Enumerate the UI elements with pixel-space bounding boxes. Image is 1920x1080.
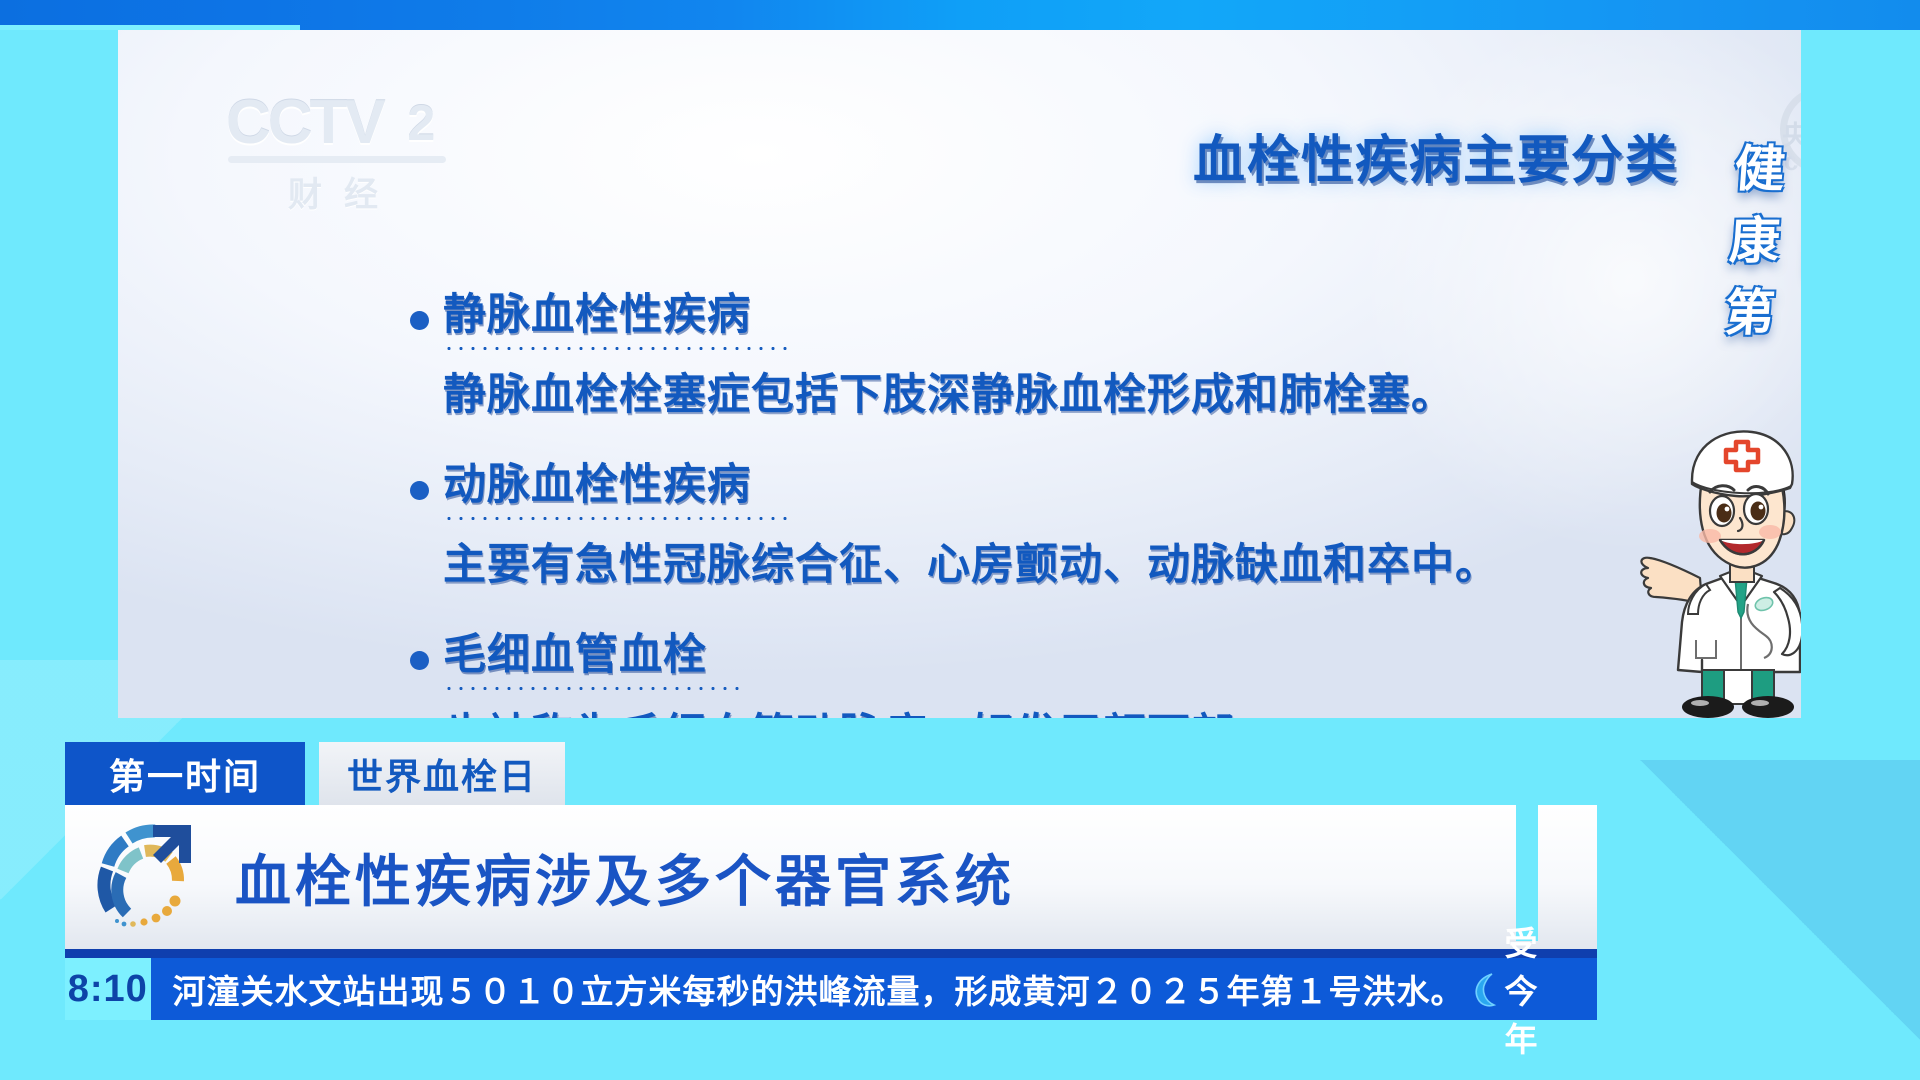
bullet-item: 毛细血管血栓 也被称为毛细血管动脉瘤，好发于颜面部。 [410,620,1590,718]
topic-tab: 世界血栓日 [319,742,565,805]
cctv-logo-text: CCTV [226,92,383,154]
headline-text: 血栓性疾病涉及多个器官系统 [235,837,1015,918]
bullet-term: 动脉血栓性疾病 [443,450,751,518]
moon-icon [1465,958,1505,1020]
slide-title: 血栓性疾病主要分类 [1193,118,1679,193]
cctv-channel-number: 2 [391,94,449,152]
tab-gap [305,742,319,805]
background-chevron-right [1640,760,1920,1080]
bullet-head: 毛细血管血栓 [410,620,1590,688]
cctv-channel-category: 财经 [226,167,486,216]
bullet-head: 静脉血栓性疾病 [410,280,1590,348]
lower-third-tabs: 第一时间 世界血栓日 [65,742,1597,805]
bullet-item: 静脉血栓性疾病 静脉血栓栓塞症包括下肢深静脉血栓形成和肺栓塞。 [410,280,1590,422]
program-name-tab: 第一时间 [65,742,305,805]
bullet-description: 主要有急性冠脉综合征、心房颤动、动脉缺血和卒中。 [443,530,1590,592]
bullet-dot-icon [410,481,429,500]
clock-time: 8:10 [65,958,151,1020]
bullet-list: 静脉血栓性疾病 静脉血栓栓塞症包括下肢深静脉血栓形成和肺栓塞。 动脉血栓性疾病 … [410,280,1590,718]
cctv2-logo: CCTV 2 财经 [226,92,486,204]
cartoon-doctor-icon [1640,408,1801,718]
news-ticker: 8:10 河潼关水文站出现５０１０立方米每秒的洪峰流量，形成黄河２０２５年第１号… [65,958,1597,1020]
bullet-description: 也被称为毛细血管动脉瘤，好发于颜面部。 [443,700,1590,718]
bullet-dot-icon [410,651,429,670]
bullet-dot-icon [410,311,429,330]
content-slide: CCTV 2 财经 血栓性疾病主要分类 央视网 com 健康第 1 线 静脉血 [118,30,1801,718]
program-badge-part1: 健康第 [1722,129,1801,345]
bullet-item: 动脉血栓性疾病 主要有急性冠脉综合征、心房颤动、动脉缺血和卒中。 [410,450,1590,592]
bullet-term: 静脉血栓性疾病 [443,280,751,348]
bullet-head: 动脉血栓性疾病 [410,450,1590,518]
ticker-text: 河潼关水文站出现５０１０立方米每秒的洪峰流量，形成黄河２０２５年第１号洪水。 [151,958,1465,1020]
top-gradient-bar [0,0,1920,30]
cctv-logo-rule [228,156,446,163]
bullet-description: 静脉血栓栓塞症包括下肢深静脉血栓形成和肺栓塞。 [443,360,1590,422]
cctv-logo-row: CCTV 2 [226,92,486,154]
bullet-term: 毛细血管血栓 [443,620,707,688]
swoosh-logo-icon [83,813,211,941]
program-badge: 健康第 1 线 [1727,200,1801,274]
ticker-next-text: 受今年 [1505,958,1598,1020]
headline-bar: 血栓性疾病涉及多个器官系统 [65,805,1597,958]
broadcast-screen: CCTV 2 财经 血栓性疾病主要分类 央视网 com 健康第 1 线 静脉血 [0,0,1920,1080]
